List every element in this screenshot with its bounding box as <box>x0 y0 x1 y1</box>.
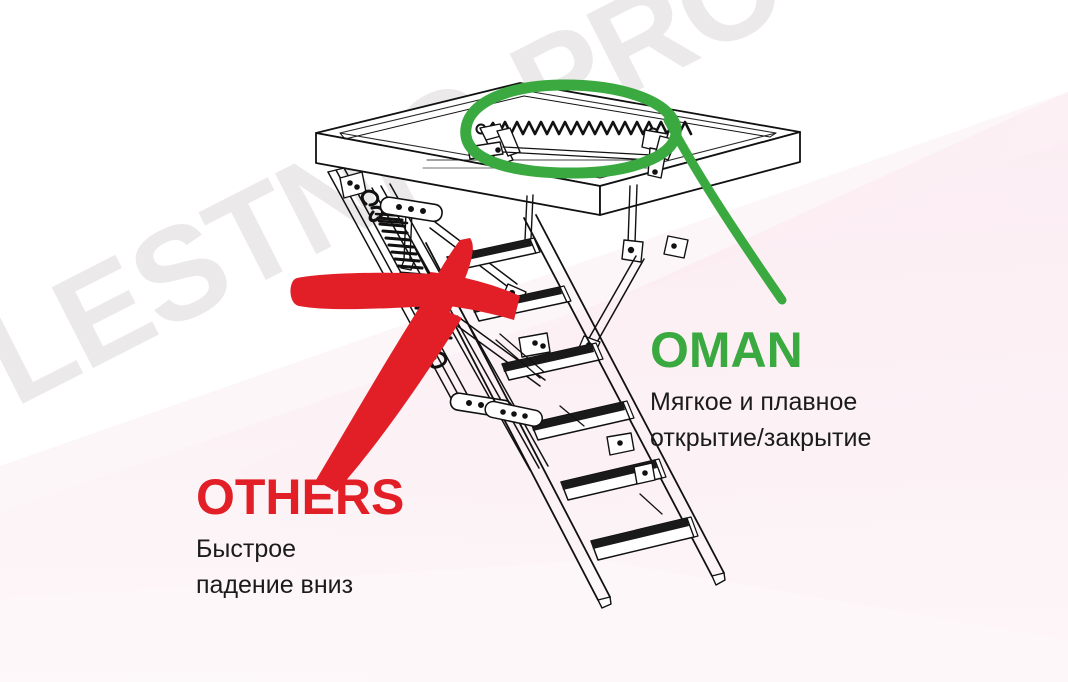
oman-description-line-2: открытие/закрытие <box>650 420 871 456</box>
others-description-line-1: Быстрое <box>196 531 404 567</box>
oman-description: Мягкое и плавное открытие/закрытие <box>650 384 871 457</box>
others-description-line-2: падение вниз <box>196 567 404 603</box>
oman-title: OMAN <box>650 325 871 376</box>
loft-ladder-technical-drawing <box>0 0 1068 682</box>
others-description: Быстрое падение вниз <box>196 531 404 604</box>
others-title: OTHERS <box>196 472 404 523</box>
illustration-canvas: LESTNIC-PROSTO.RU <box>0 0 1068 682</box>
oman-description-line-1: Мягкое и плавное <box>650 384 871 420</box>
oman-label-block: OMAN Мягкое и плавное открытие/закрытие <box>650 325 871 457</box>
others-label-block: OTHERS Быстрое падение вниз <box>196 472 404 604</box>
